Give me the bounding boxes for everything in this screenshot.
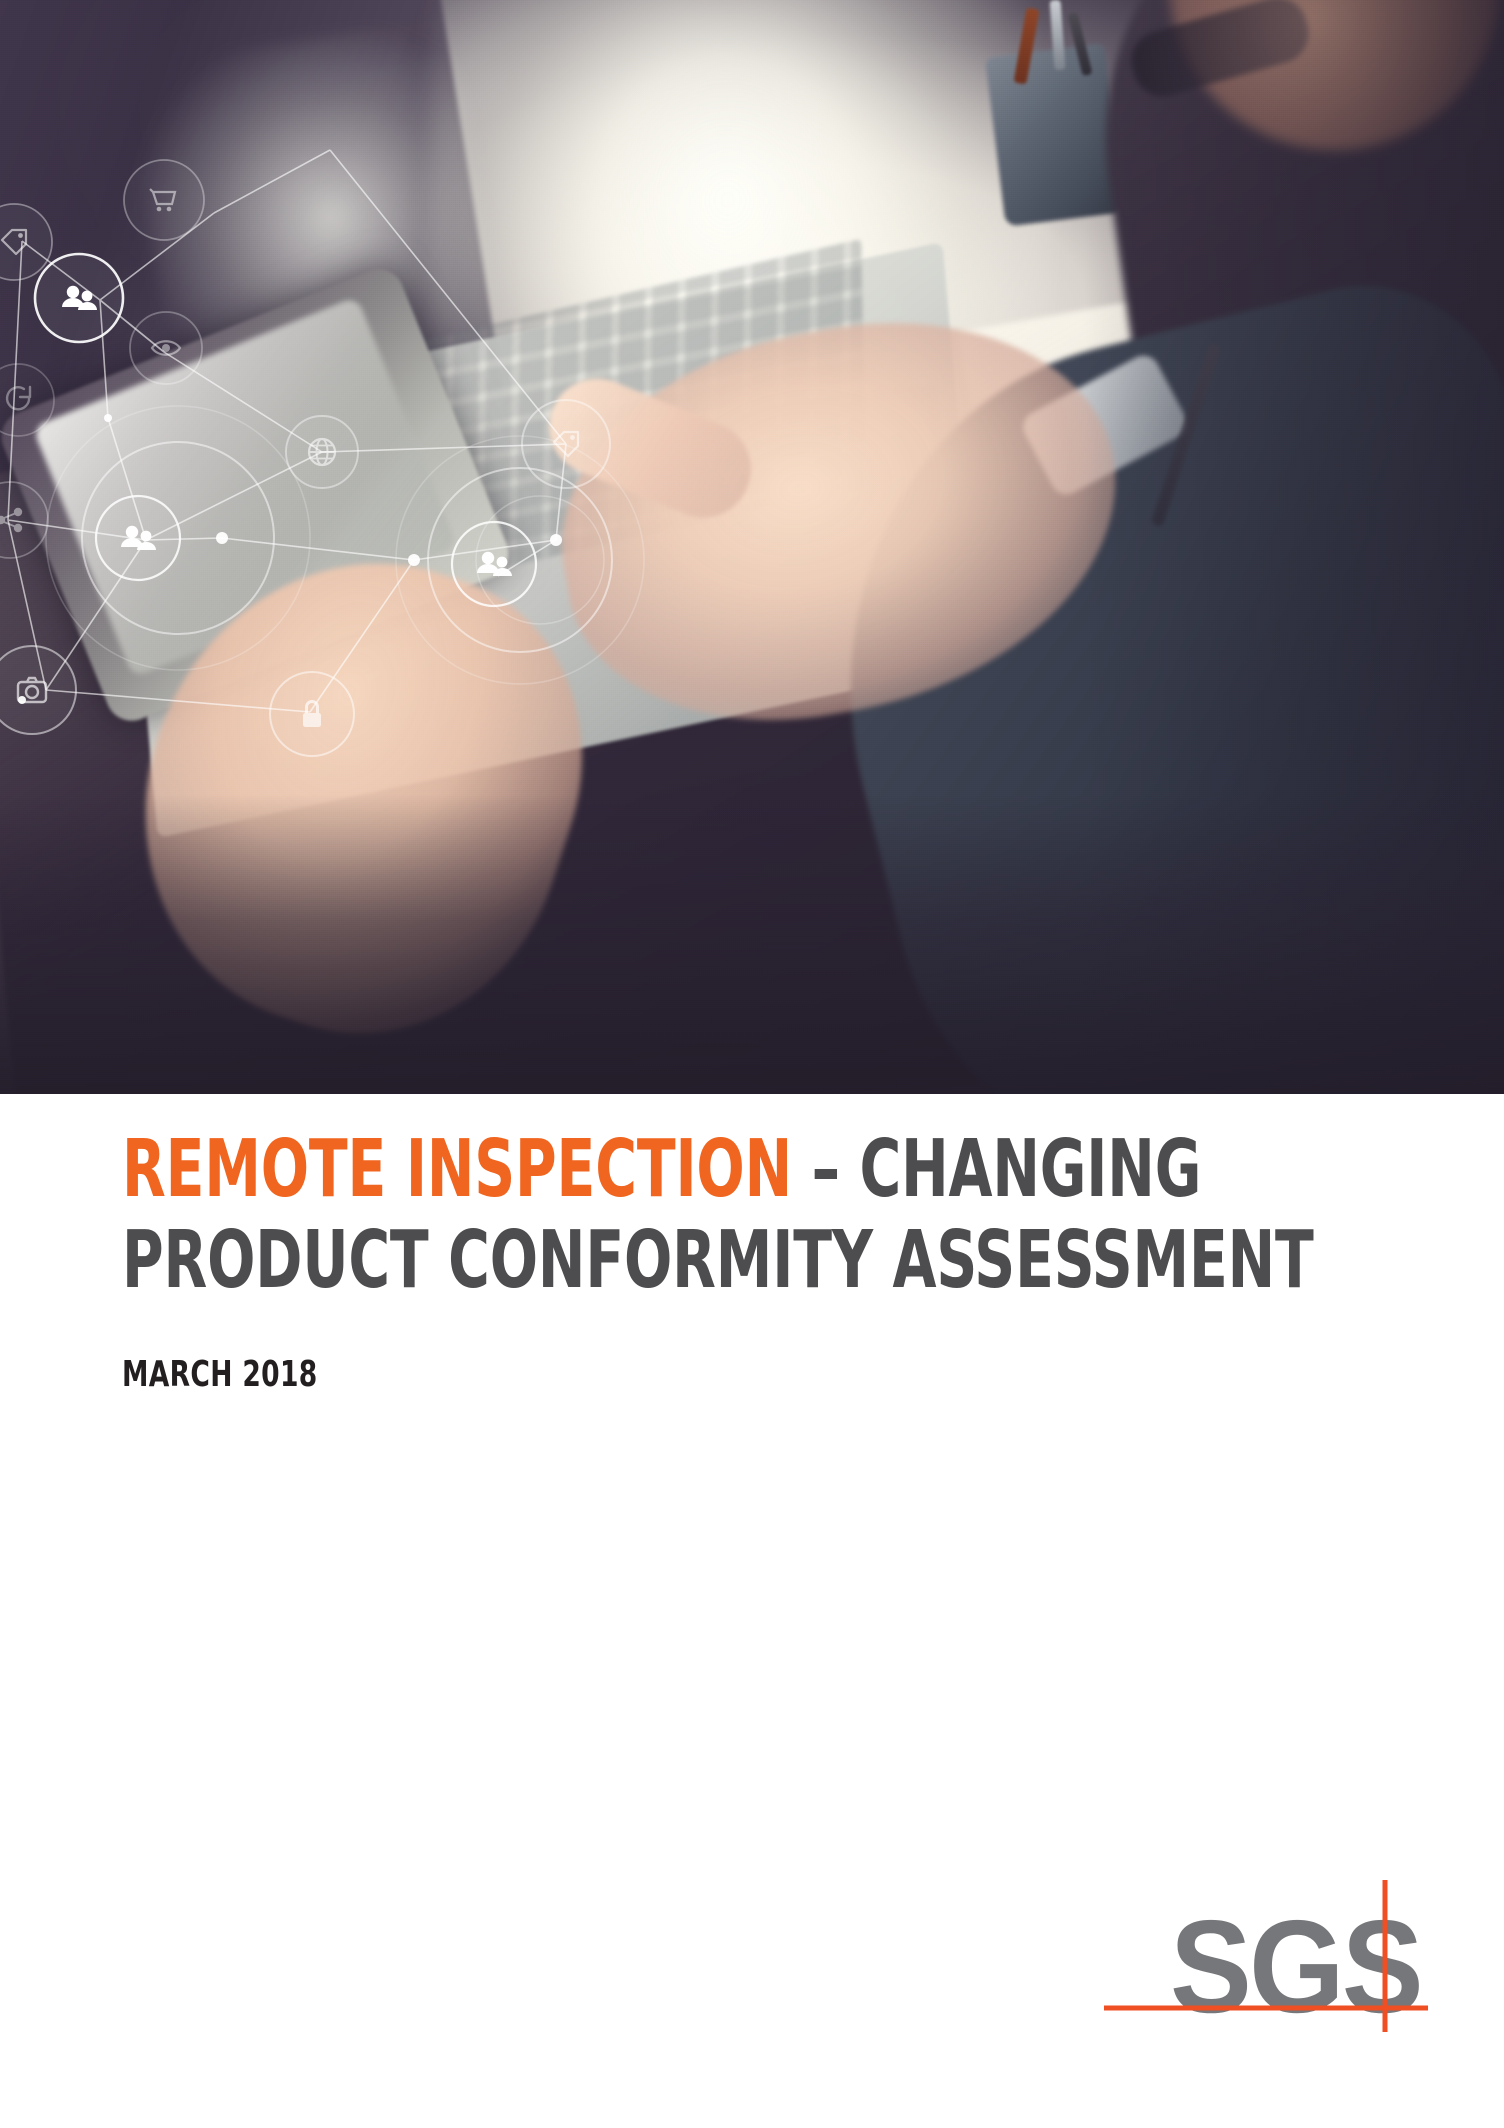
- title-line-1-rest: CHANGING: [860, 1123, 1202, 1215]
- cover-page: REMOTE INSPECTION – CHANGING PRODUCT CON…: [0, 0, 1504, 2128]
- photo-grain: [0, 0, 1504, 1094]
- title-block: REMOTE INSPECTION – CHANGING PRODUCT CON…: [122, 1124, 1382, 1396]
- title-dash: –: [792, 1123, 860, 1215]
- title-line-2: PRODUCT CONFORMITY ASSESSMENT: [122, 1215, 1130, 1306]
- cover-photograph: [0, 0, 1504, 1094]
- publication-date: MARCH 2018: [122, 1354, 1155, 1396]
- photo-layers: [0, 0, 1504, 1094]
- title-highlight: REMOTE INSPECTION: [122, 1123, 792, 1215]
- title-line-1: REMOTE INSPECTION – CHANGING: [122, 1124, 1130, 1215]
- sgs-logo: SGS: [1096, 1866, 1446, 2042]
